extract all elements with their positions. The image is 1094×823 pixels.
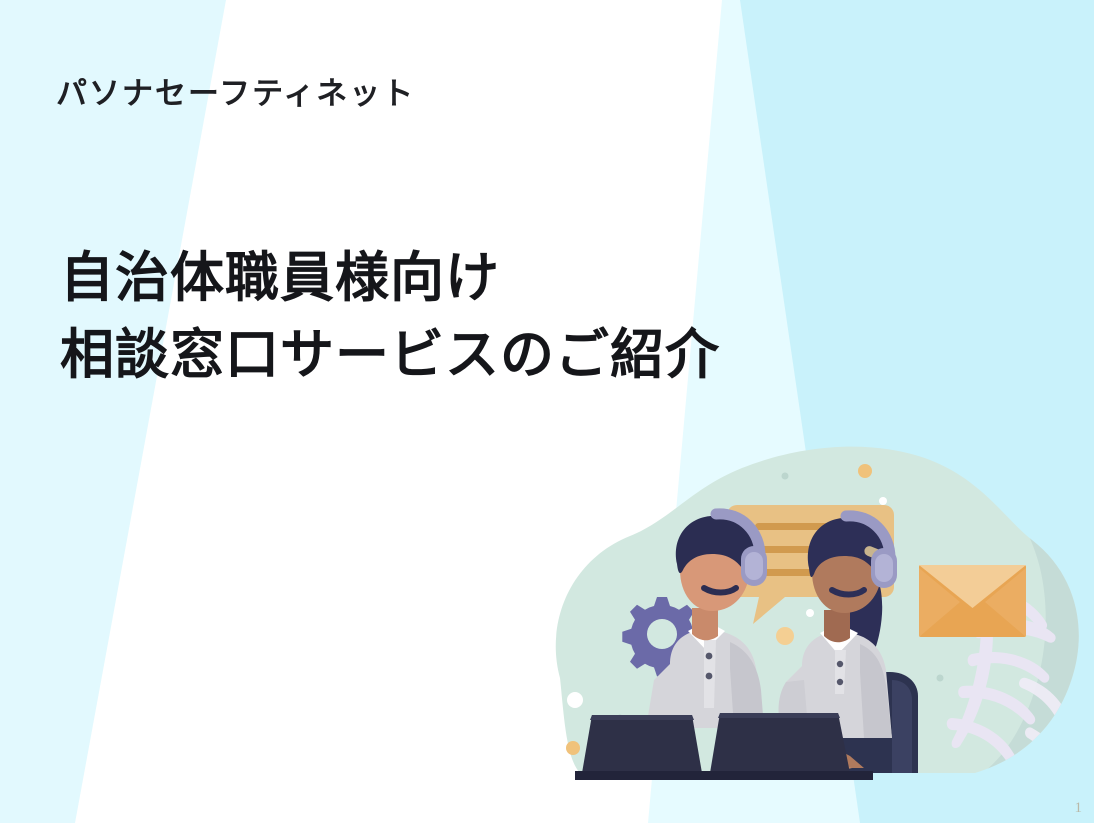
slide-canvas: パソナセーフティネット 自治体職員様向け 相談窓口サービスのご紹介 — [0, 0, 1094, 823]
brand-name: パソナセーフティネット — [56, 68, 415, 113]
call-center-agents-illustration — [520, 428, 1088, 823]
laptop-right — [710, 713, 850, 773]
page-number: 1 — [1075, 800, 1083, 817]
title-line-2: 相談窓口サービスのご紹介 — [60, 317, 720, 394]
desk-surface — [575, 771, 873, 780]
envelope-icon — [919, 565, 1026, 637]
laptop-left — [582, 715, 702, 773]
title-line-1: 自治体職員様向け — [60, 248, 500, 308]
page-title: 自治体職員様向け 相談窓口サービスのご紹介 — [60, 240, 720, 393]
